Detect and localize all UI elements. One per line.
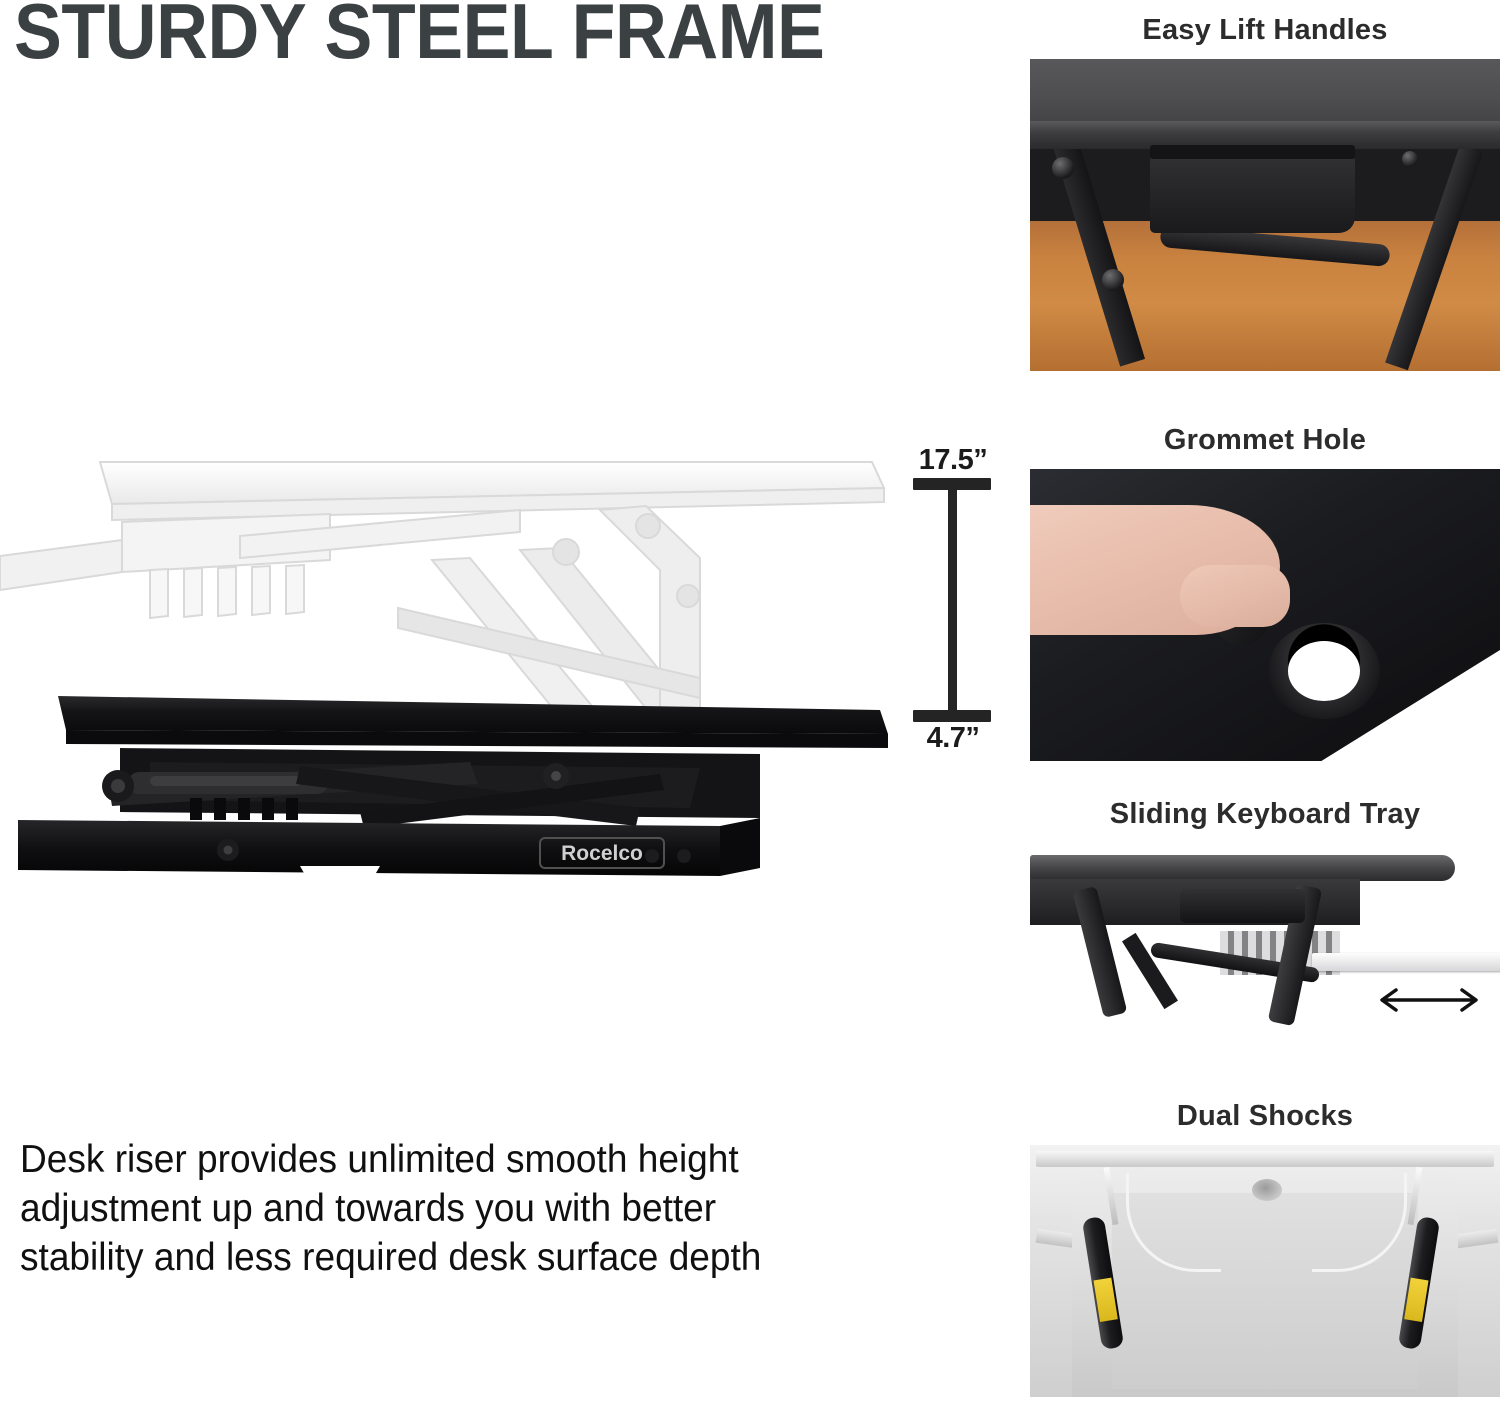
height-range-gauge: 17.5” 4.7” [905, 448, 1000, 753]
dual-shocks-photo [1030, 1145, 1500, 1397]
desk-surface [1030, 59, 1500, 123]
gauge-bottom-cap [913, 710, 991, 722]
screw-icon [1402, 151, 1418, 167]
feature-dual-shocks: Dual Shocks [1030, 1100, 1500, 1397]
mounting-hole [1252, 1179, 1282, 1201]
grommet-hole-photo [1030, 469, 1500, 761]
lift-handle-photo [1030, 59, 1500, 371]
keyboard-tray-photo [1030, 845, 1500, 1055]
slide-direction-arrow-icon [1370, 985, 1488, 1015]
gauge-stem [948, 484, 957, 716]
sliding-keyboard-tray [1312, 953, 1500, 971]
feature-label: Easy Lift Handles [1030, 14, 1500, 47]
screw-icon [1052, 157, 1074, 179]
feature-label: Sliding Keyboard Tray [1030, 798, 1500, 831]
max-height-label: 17.5” [903, 444, 1003, 477]
page-title: STURDY STEEL FRAME [14, 0, 897, 69]
screw-icon [1102, 269, 1124, 291]
lift-handle [1180, 889, 1305, 923]
grommet-hole [1268, 623, 1380, 719]
brand-name: Rocelco [561, 842, 643, 865]
warning-label [1093, 1278, 1117, 1322]
thumb [1180, 565, 1290, 627]
product-side-view-illustration: Rocelco [0, 440, 930, 900]
infographic-root: STURDY STEEL FRAME [0, 0, 1500, 1404]
min-height-label: 4.7” [903, 722, 1003, 755]
feature-sliding-keyboard-tray: Sliding Keyboard Tray [1030, 798, 1500, 1055]
lift-handle [1150, 155, 1355, 233]
feature-label: Grommet Hole [1030, 424, 1500, 457]
feature-easy-lift-handles: Easy Lift Handles [1030, 14, 1500, 371]
frame-rail [1036, 1151, 1494, 1167]
feature-grommet-hole: Grommet Hole [1030, 424, 1500, 761]
feature-label: Dual Shocks [1030, 1100, 1500, 1133]
warning-label [1404, 1278, 1428, 1322]
desk-surface [1030, 855, 1455, 881]
riser-lowered-illustration: Rocelco [0, 690, 930, 900]
description-text: Desk riser provides unlimited smooth hei… [20, 1135, 771, 1282]
